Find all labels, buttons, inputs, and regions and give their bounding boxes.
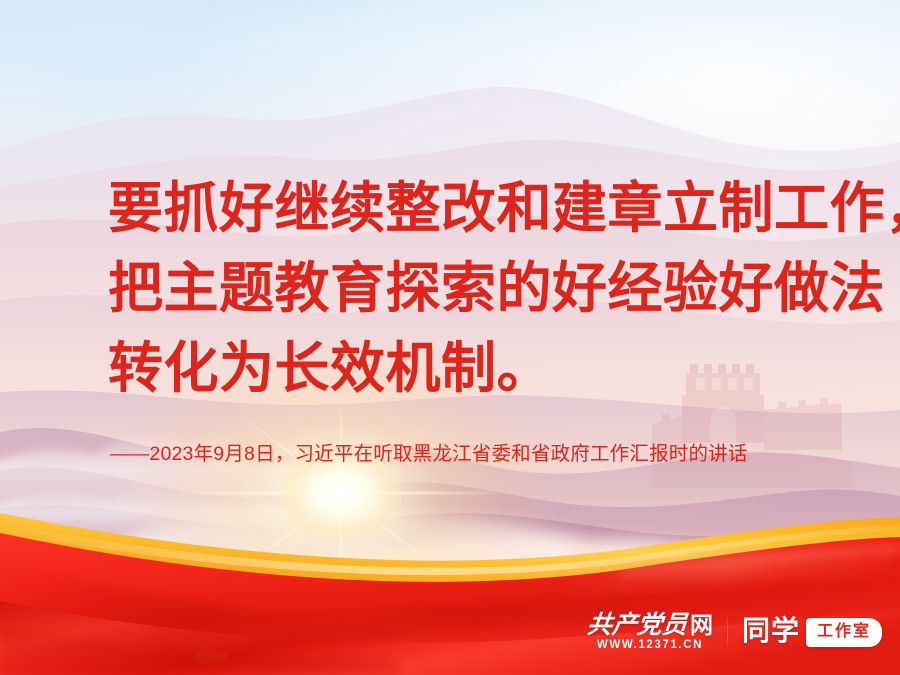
quote-block: 要抓好继续整改和建章立制工作， 把主题教育探索的好经验好做法 转化为长效机制。 — [108, 168, 868, 408]
site-logo-wordmark: 共产党员网 — [587, 613, 713, 638]
quote-attribution: ——2023年9月8日，习近平在听取黑龙江省委和省政府工作汇报时的讲话 — [110, 442, 748, 466]
sun-glow — [340, 492, 342, 494]
logo-divider — [727, 615, 728, 649]
quote-line-2: 把主题教育探索的好经验好做法 — [108, 248, 868, 328]
site-logo-url: WWW.12371.CN — [597, 640, 703, 652]
studio-pill-badge: 工作室 — [806, 618, 882, 647]
poster-canvas: 要抓好继续整改和建章立制工作， 把主题教育探索的好经验好做法 转化为长效机制。 … — [0, 0, 900, 675]
sun-ray-diagonal-2 — [242, 415, 440, 570]
studio-logo[interactable]: 同学 工作室 — [742, 618, 882, 647]
sun-ray-horizontal — [171, 492, 511, 495]
sun-ray-vertical — [340, 398, 343, 588]
logo-area[interactable]: 共产党员网 WWW.12371.CN 同学 工作室 — [587, 605, 882, 659]
site-logo[interactable]: 共产党员网 WWW.12371.CN — [587, 613, 713, 652]
quote-line-3: 转化为长效机制。 — [108, 328, 868, 408]
site-logo-boxed-text: 网 — [690, 614, 713, 637]
studio-name-text: 同学 — [742, 618, 800, 646]
sun-ray-diagonal-1 — [242, 415, 440, 570]
site-logo-cursive-text: 共产党员 — [586, 613, 689, 638]
quote-line-1: 要抓好继续整改和建章立制工作， — [108, 168, 868, 248]
